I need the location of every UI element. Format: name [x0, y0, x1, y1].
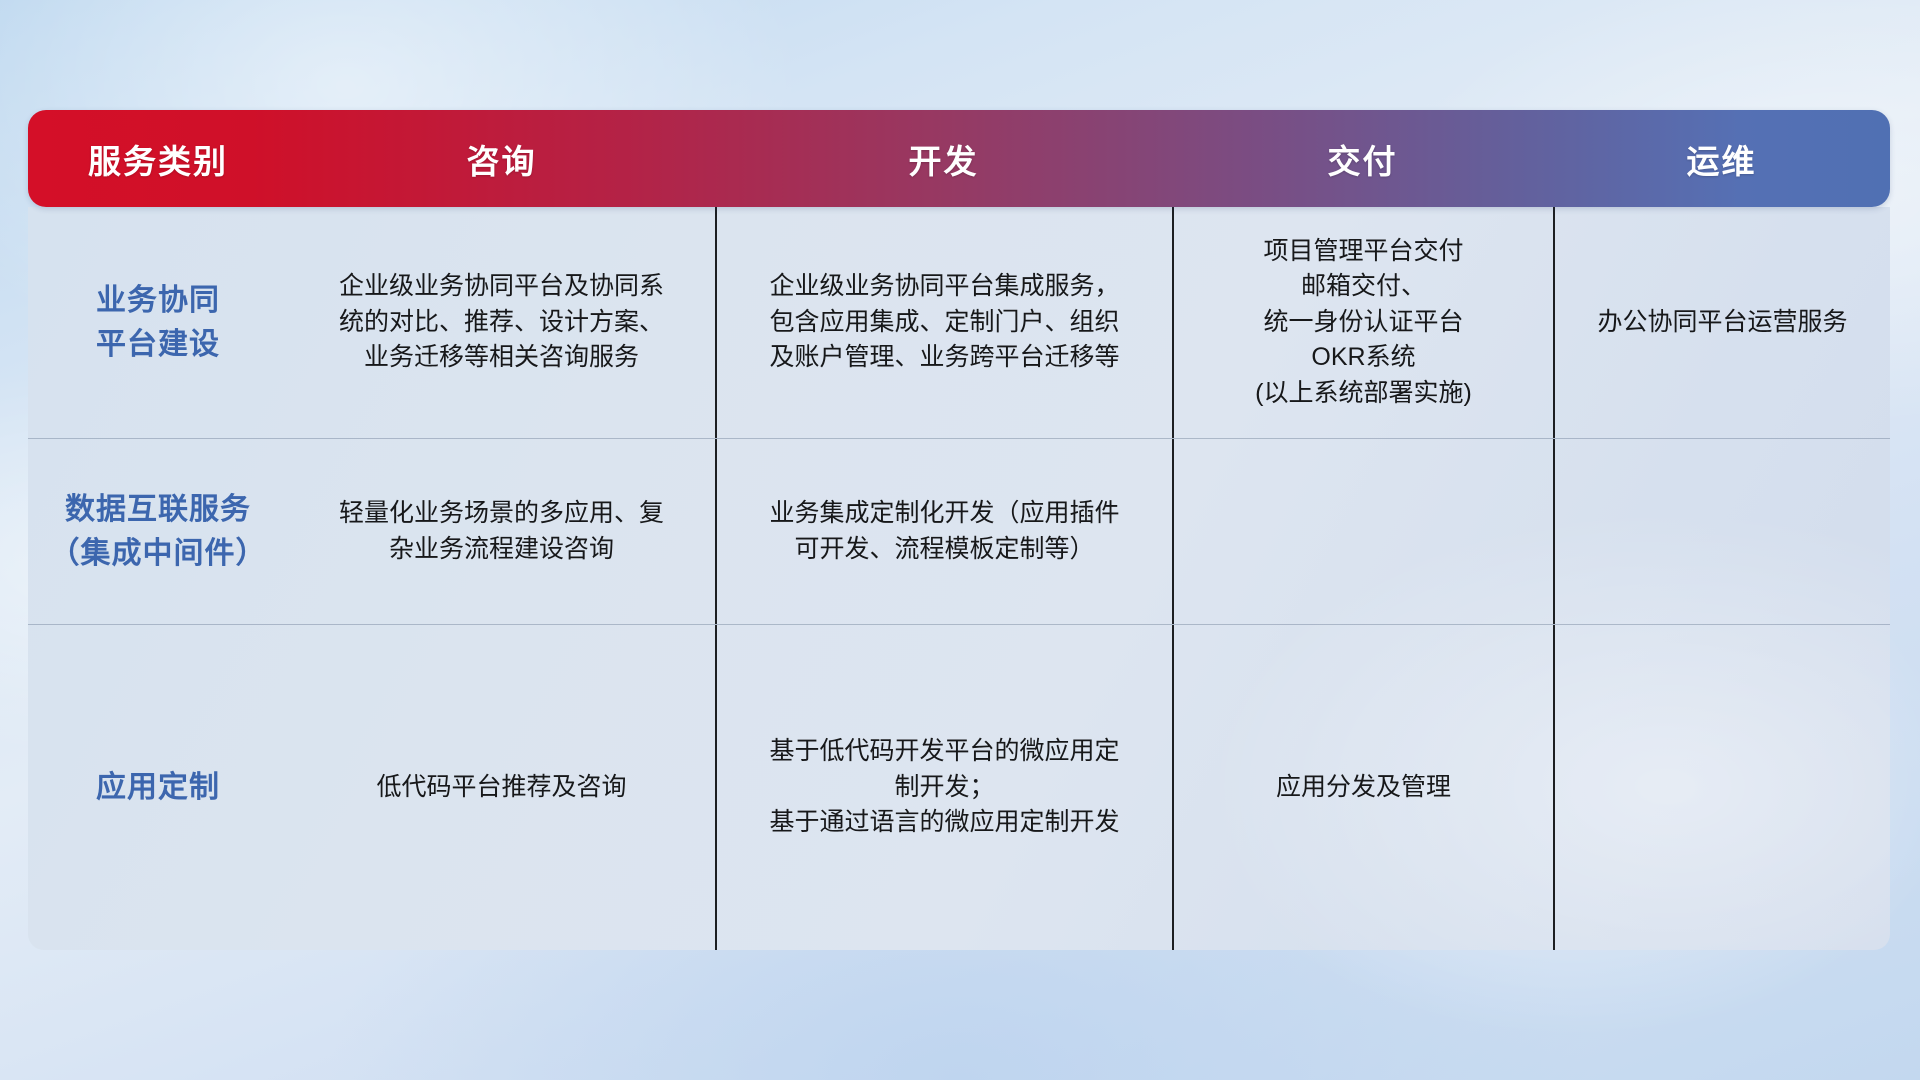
table-header-row: 服务类别 咨询 开发 交付 运维 [28, 110, 1890, 207]
table-header-cell-category: 服务类别 [28, 110, 288, 207]
table-cell-operations [1553, 625, 1890, 950]
table-header-cell-consulting: 咨询 [288, 110, 715, 207]
table-cell-delivery [1172, 439, 1553, 624]
table-cell-operations [1553, 439, 1890, 624]
table-header-cell-operations: 运维 [1553, 110, 1890, 207]
table-body: 业务协同 平台建设 企业级业务协同平台及协同系 统的对比、推荐、设计方案、 业务… [28, 207, 1890, 950]
table-row: 数据互联服务 （集成中间件） 轻量化业务场景的多应用、复 杂业务流程建设咨询 业… [28, 439, 1890, 625]
table-cell-consulting: 低代码平台推荐及咨询 [288, 625, 715, 950]
table-cell-category: 数据互联服务 （集成中间件） [28, 439, 288, 624]
table-cell-consulting: 轻量化业务场景的多应用、复 杂业务流程建设咨询 [288, 439, 715, 624]
table-row: 应用定制 低代码平台推荐及咨询 基于低代码开发平台的微应用定 制开发； 基于通过… [28, 625, 1890, 950]
table-row: 业务协同 平台建设 企业级业务协同平台及协同系 统的对比、推荐、设计方案、 业务… [28, 207, 1890, 439]
table-cell-delivery: 项目管理平台交付 邮箱交付、 统一身份认证平台 OKR系统 (以上系统部署实施) [1172, 207, 1553, 438]
table-cell-development: 企业级业务协同平台集成服务， 包含应用集成、定制门户、组织 及账户管理、业务跨平… [715, 207, 1172, 438]
table-cell-consulting: 企业级业务协同平台及协同系 统的对比、推荐、设计方案、 业务迁移等相关咨询服务 [288, 207, 715, 438]
table-header-cell-delivery: 交付 [1172, 110, 1553, 207]
service-category-table: 服务类别 咨询 开发 交付 运维 业务协同 平台建设 企业级业务协同平台及协同系… [28, 110, 1890, 950]
table-cell-delivery: 应用分发及管理 [1172, 625, 1553, 950]
table-cell-operations: 办公协同平台运营服务 [1553, 207, 1890, 438]
table-header-cell-development: 开发 [715, 110, 1172, 207]
table-cell-category: 应用定制 [28, 625, 288, 950]
table-cell-category: 业务协同 平台建设 [28, 207, 288, 438]
table-cell-development: 基于低代码开发平台的微应用定 制开发； 基于通过语言的微应用定制开发 [715, 625, 1172, 950]
table-cell-development: 业务集成定制化开发（应用插件 可开发、流程模板定制等） [715, 439, 1172, 624]
